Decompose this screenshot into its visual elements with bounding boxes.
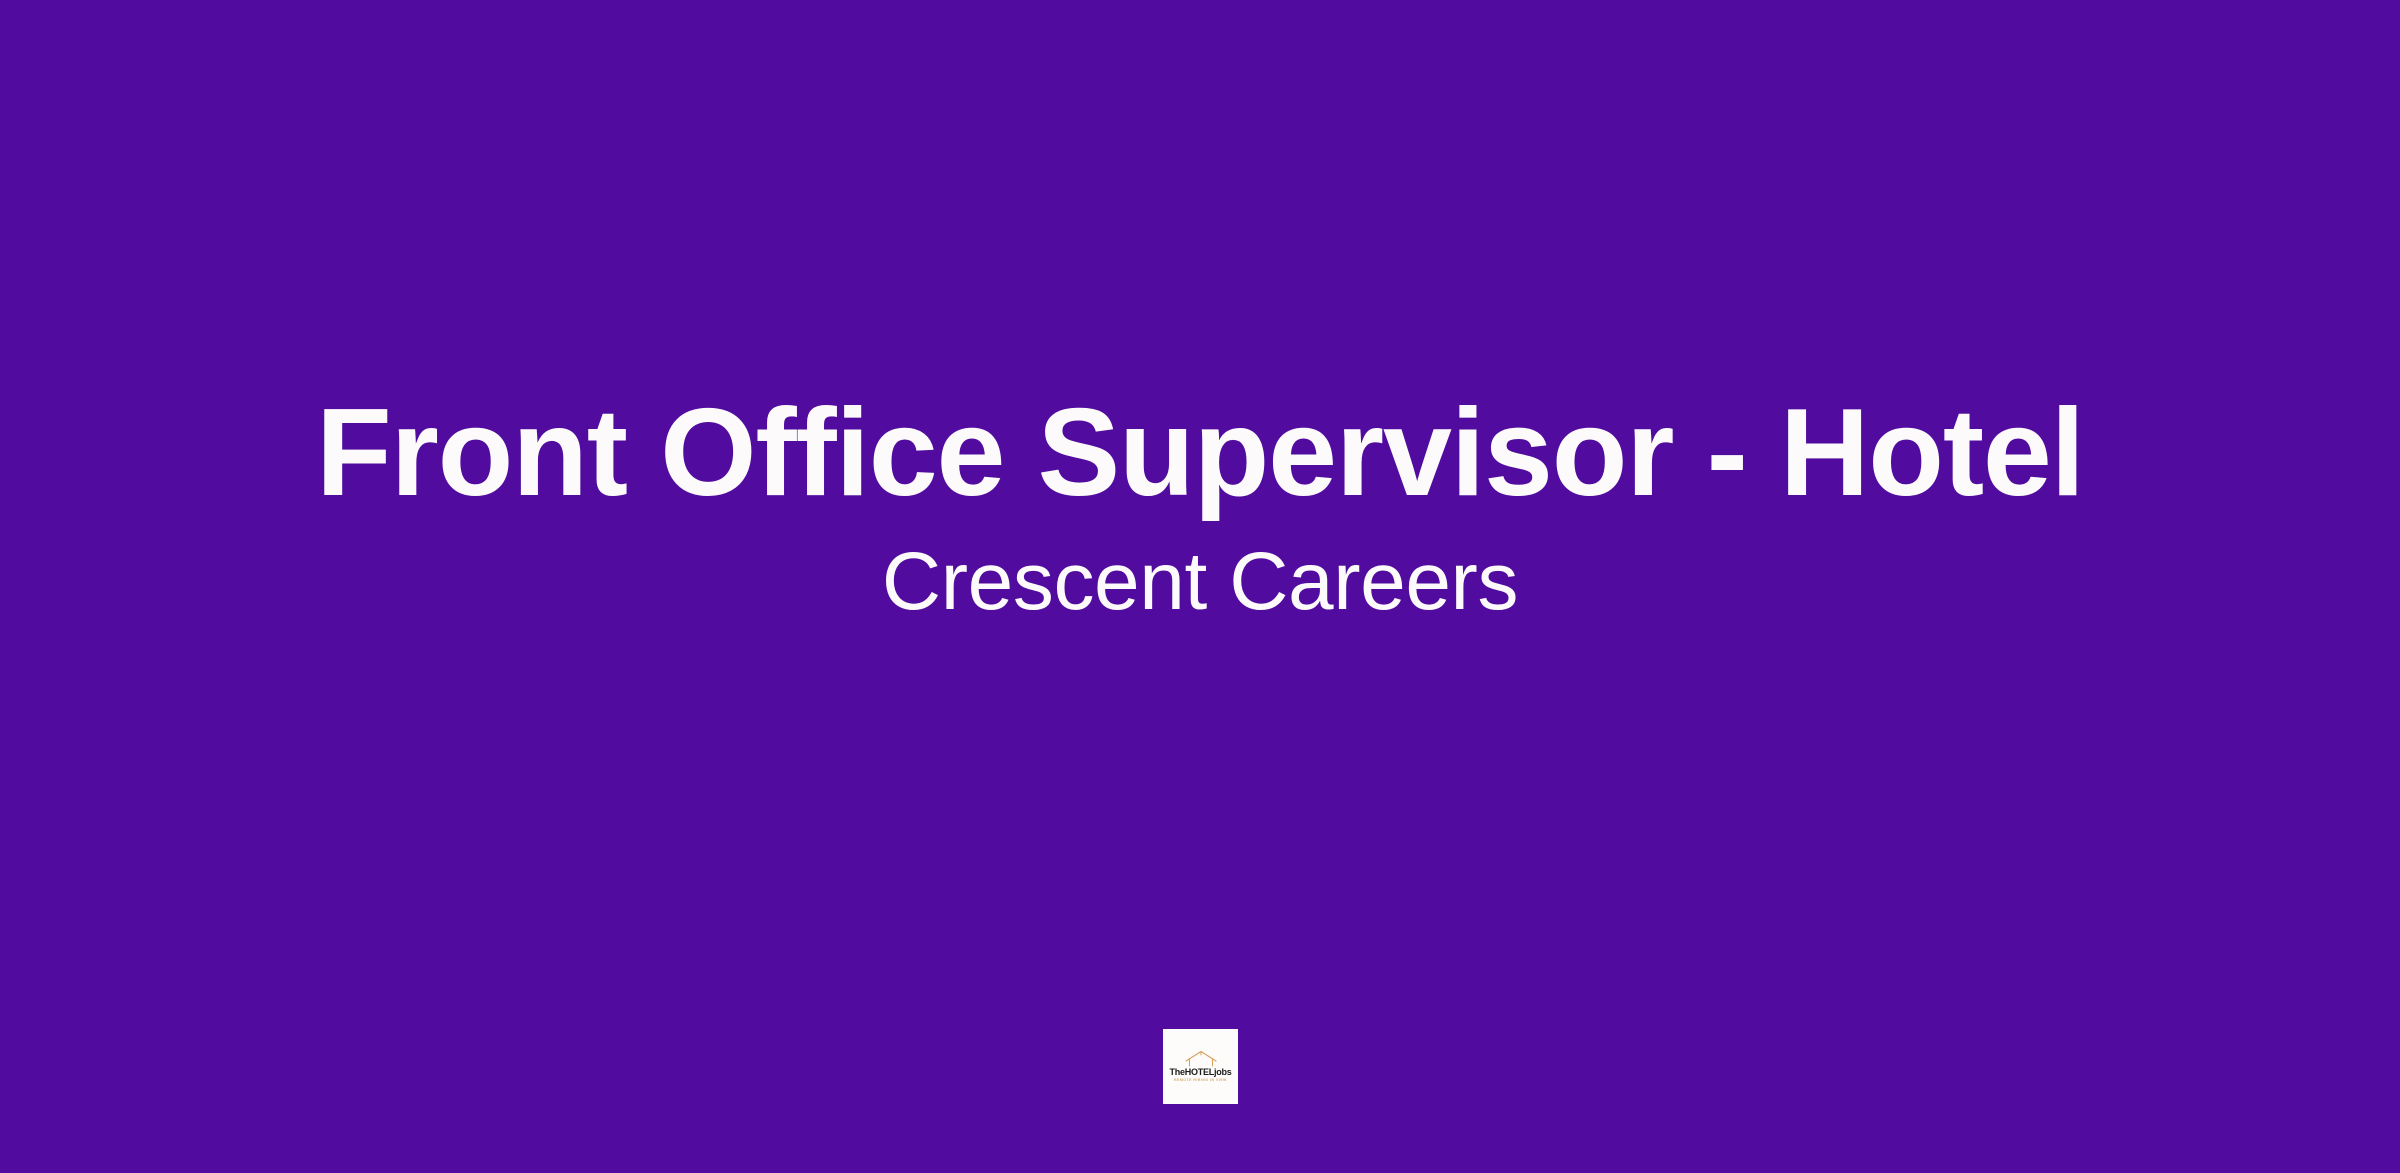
job-share-card: Front Office Supervisor - Hotel Crescent… [0,0,2400,1173]
page-title: Front Office Supervisor - Hotel [316,388,2084,519]
logo-tagline: REMOTE HIRING IN VIEW [1174,1079,1227,1082]
logo-wordmark: TheHOTELjobs [1170,1068,1232,1077]
company-name: Crescent Careers [882,534,1518,631]
logo-tile[interactable]: TheHOTELjobs REMOTE HIRING IN VIEW [1163,1029,1238,1104]
house-roof-icon [1184,1050,1218,1067]
job-text-block: Front Office Supervisor - Hotel Crescent… [0,0,2400,1029]
logo-container[interactable]: TheHOTELjobs REMOTE HIRING IN VIEW [1163,1029,1238,1104]
